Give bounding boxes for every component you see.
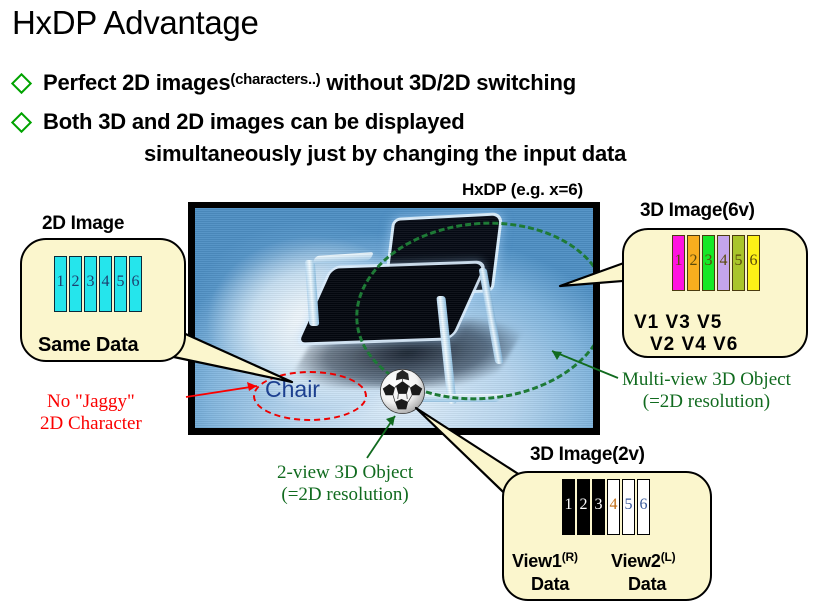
bar-2v-5: 5	[622, 479, 635, 535]
view2-text: View2	[611, 551, 661, 571]
view1-label: View1(R)	[512, 550, 578, 572]
bar-number: 3	[85, 274, 96, 290]
bar-2d-5: 5	[114, 256, 127, 312]
display-photo-scene: Chair	[195, 208, 593, 428]
view2-label: View2(L)	[611, 550, 675, 572]
slide-canvas: HxDP Advantage Perfect 2D images(charact…	[0, 0, 826, 612]
photo-top-label: HxDP (e.g. x=6)	[462, 180, 583, 200]
bar-6v-6: 6	[747, 235, 760, 291]
bar-number: 2	[688, 253, 699, 269]
view1-data-label: Data	[531, 574, 569, 595]
annotation-multiview: Multi-view 3D Object (=2D resolution)	[622, 369, 791, 414]
diamond-bullet-icon	[11, 73, 32, 94]
bar-2d-2: 2	[69, 256, 82, 312]
bar-2v-1: 1	[562, 479, 575, 535]
chair-caption-text: Chair	[265, 376, 320, 403]
bar-6v-3: 3	[702, 235, 715, 291]
annotation-line-1: Multi-view 3D Object	[622, 369, 791, 391]
bar-6v-4: 4	[717, 235, 730, 291]
chair-arm-horizontal	[312, 252, 374, 264]
bar-2d-4: 4	[99, 256, 112, 312]
annotation-line-2: 2D Character	[40, 413, 142, 435]
bar-6v-1: 1	[672, 235, 685, 291]
bar-2v-4: 4	[607, 479, 620, 535]
bullet-item-1: Perfect 2D images(characters..) without …	[14, 70, 576, 96]
callout-title-6v: 3D Image(6v)	[640, 200, 755, 222]
diamond-bullet-icon	[11, 112, 32, 133]
annotation-line-2: (=2D resolution)	[622, 391, 791, 413]
callout-title-2d: 2D Image	[42, 213, 124, 235]
bar-number: 6	[748, 253, 759, 269]
bar-2d-1: 1	[54, 256, 67, 312]
bullet-item-2-continuation: simultaneously just by changing the inpu…	[144, 141, 626, 167]
bar-number: 5	[115, 274, 126, 290]
bullet-1-superscript: (characters..)	[230, 71, 320, 88]
bar-number: 3	[593, 497, 604, 513]
bar-number: 4	[608, 497, 619, 513]
bar-number: 1	[55, 274, 66, 290]
page-title: HxDP Advantage	[12, 4, 259, 42]
bar-2v-2: 2	[577, 479, 590, 535]
callout-title-2v: 3D Image(2v)	[530, 444, 645, 466]
bar-2v-3: 3	[592, 479, 605, 535]
bar-6v-2: 2	[687, 235, 700, 291]
bar-2v-6: 6	[637, 479, 650, 535]
annotation-line-2: (=2D resolution)	[277, 484, 413, 506]
bullet-item-2: Both 3D and 2D images can be displayed	[14, 109, 465, 135]
bar-number: 1	[673, 253, 684, 269]
bullet-1-text-before: Perfect 2D images	[43, 70, 230, 95]
bar-number: 5	[623, 497, 634, 513]
display-photo-frame: Chair	[188, 202, 600, 435]
bar-number: 3	[703, 253, 714, 269]
bar-number: 2	[578, 497, 589, 513]
bar-number: 1	[563, 497, 574, 513]
bar-2d-6: 6	[129, 256, 142, 312]
bar-2d-3: 3	[84, 256, 97, 312]
soccer-ball-icon	[379, 368, 426, 415]
view1-superscript: (R)	[562, 550, 578, 564]
bar-group-2v: 1 2 3 4 5 6	[562, 479, 650, 535]
bar-6v-5: 5	[732, 235, 745, 291]
view2-superscript: (L)	[661, 550, 676, 564]
annotation-no-jaggy: No "Jaggy" 2D Character	[40, 391, 142, 436]
bullet-2-text: Both 3D and 2D images can be displayed	[43, 109, 465, 134]
bullet-1-text-after: without 3D/2D switching	[326, 70, 576, 95]
bar-number: 6	[638, 497, 649, 513]
view2-data-label: Data	[628, 574, 666, 595]
annotation-line-1: No "Jaggy"	[40, 391, 142, 413]
bar-group-2d: 1 2 3 4 5 6	[54, 256, 142, 312]
bar-number: 2	[70, 274, 81, 290]
annotation-twoview: 2-view 3D Object (=2D resolution)	[277, 462, 413, 507]
same-data-label: Same Data	[38, 334, 138, 357]
bar-number: 4	[100, 274, 111, 290]
annotation-line-1: 2-view 3D Object	[277, 462, 413, 484]
bar-group-6v: 1 2 3 4 5 6	[672, 235, 760, 291]
bar-number: 5	[733, 253, 744, 269]
view-labels-row-1: V1 V3 V5	[634, 312, 722, 334]
bar-number: 6	[130, 274, 141, 290]
chair-arm-vertical	[305, 260, 320, 326]
view-labels-row-2: V2 V4 V6	[650, 334, 738, 356]
view1-text: View1	[512, 551, 562, 571]
bar-number: 4	[718, 253, 729, 269]
